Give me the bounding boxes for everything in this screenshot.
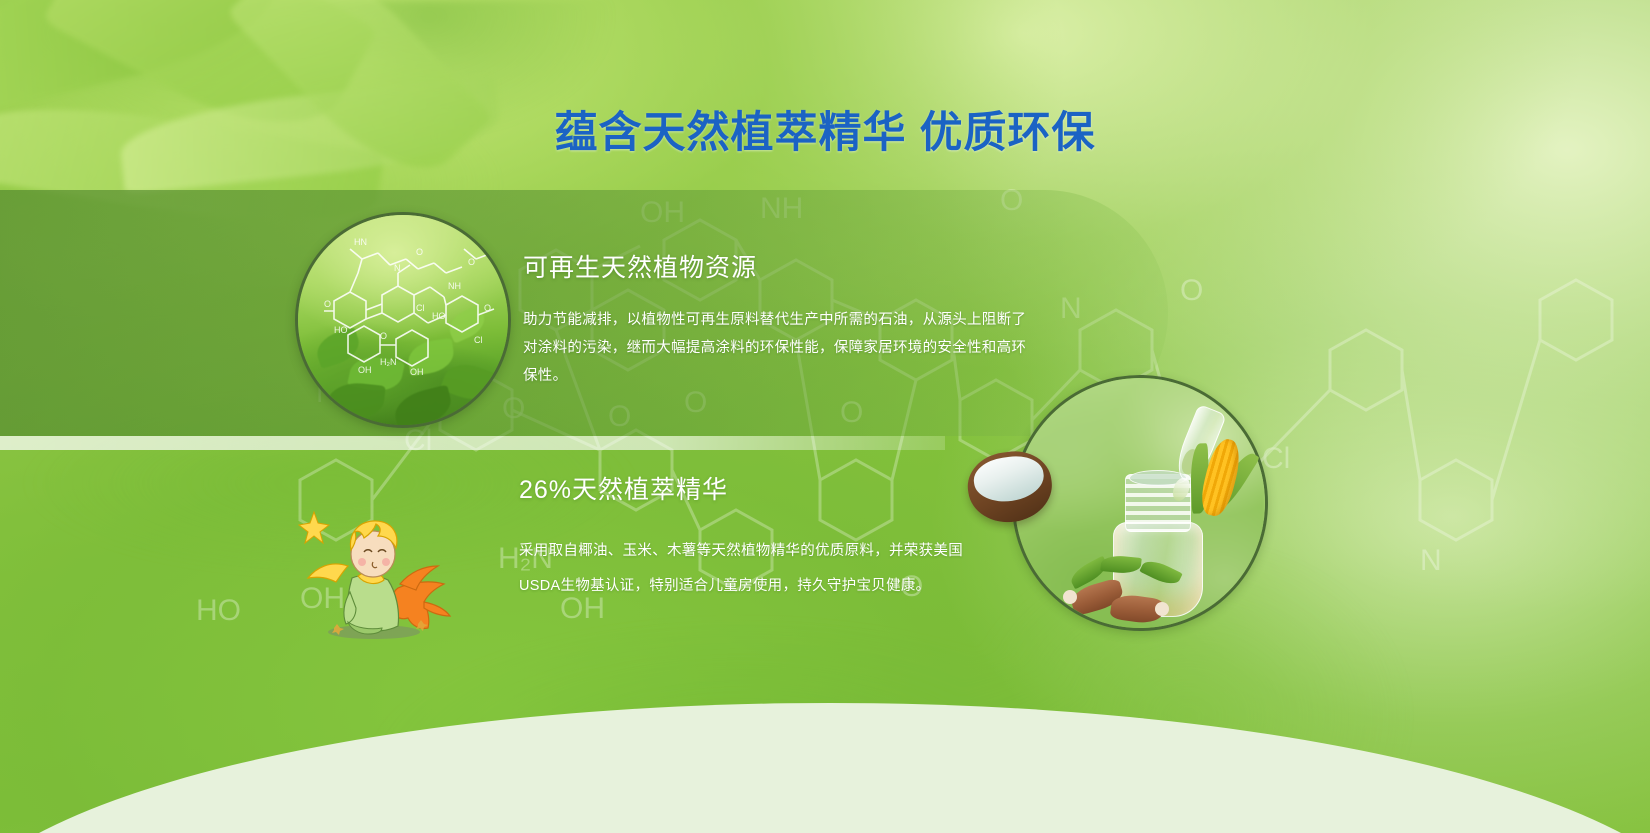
svg-text:O: O [484,303,491,313]
clover-chemistry-circle: HN N O HO OH O OH H₂N NH O O HO Cl Cl O [295,212,511,428]
little-prince-illustration [278,492,458,642]
svg-text:O: O [468,257,475,267]
star-icon [299,512,329,543]
section-2-body-line: USDA生物基认证，特别适合儿童房使用，持久守护宝贝健康。 [519,578,930,594]
svg-text:N: N [394,263,401,273]
svg-text:HO: HO [432,311,446,321]
section-1-body-line: 保性。 [523,368,567,384]
svg-text:O: O [416,247,423,257]
cassava-root-tip [1063,590,1077,604]
chemistry-overlay-icon: HN N O HO OH O OH H₂N NH O O HO Cl Cl O [298,215,508,425]
section-1-heading: 可再生天然植物资源 [523,248,1063,284]
svg-text:Cl: Cl [474,335,483,345]
svg-text:H₂N: H₂N [380,357,397,367]
section-1-body-line: 对涂料的污染，继而大幅提高涂料的环保性能，保障家居环境的安全性和高环 [523,340,1026,356]
page-title: 蕴含天然植萃精华 优质环保 [0,98,1650,160]
svg-text:HN: HN [354,237,367,247]
svg-text:OH: OH [410,367,424,377]
svg-text:NH: NH [448,281,461,291]
svg-text:O: O [324,299,331,309]
svg-text:HO: HO [334,325,348,335]
section-plant-extract: 26%天然植萃精华 采用取自椰油、玉米、木薯等天然植物精华的优质原料，并荣获美国… [519,470,1019,604]
cassava-root-tip [1155,602,1169,616]
section-1-body: 助力节能减排，以植物性可再生原料替代生产中所需的石油，从源头上阻断了 对涂料的污… [523,306,1063,390]
section-1-body-line: 助力节能减排，以植物性可再生原料替代生产中所需的石油，从源头上阻断了 [523,312,1026,328]
svg-text:OH: OH [358,365,372,375]
svg-text:Cl: Cl [416,303,425,313]
section-2-heading: 26%天然植萃精华 [519,470,1019,506]
section-divider [0,436,945,450]
svg-text:O: O [380,331,387,341]
section-2-body: 采用取自椰油、玉米、木薯等天然植物精华的优质原料，并荣获美国 USDA生物基认证… [519,534,1019,604]
scarf-icon [308,564,348,582]
promo-banner: OH NH O N O N O H₂N O Cl Cl OH OH HO O O… [0,0,1650,833]
section-2-body-line: 采用取自椰油、玉米、木薯等天然植物精华的优质原料，并荣获美国 [519,543,963,559]
section-renewable-resources: 可再生天然植物资源 助力节能减排，以植物性可再生原料替代生产中所需的石油，从源头… [523,248,1063,390]
